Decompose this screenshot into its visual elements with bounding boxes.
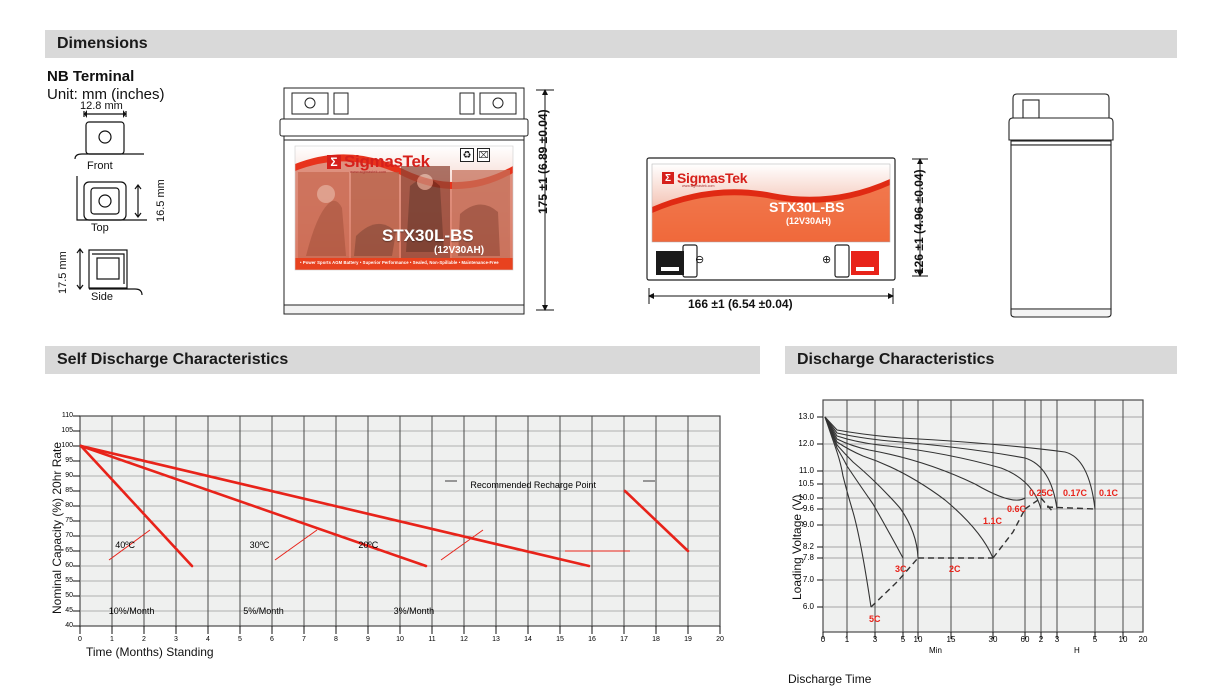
x-tick-1: 1: [102, 636, 122, 643]
sigma-mark: Σ: [327, 155, 341, 169]
x-tick-11: 10: [1114, 635, 1132, 644]
battery-tagline: • Power Sports AGM Battery • Superior Pe…: [300, 260, 499, 265]
self-discharge-ylabel: Nominal Capacity (%) 20hr Rate: [50, 442, 64, 614]
x-tick-1: 1: [838, 635, 856, 644]
battery-front-view: Σ SigmasTek www.sigmastek.com ♻ ⌧ STX30L…: [278, 86, 530, 318]
x-tick-6: 6: [262, 636, 282, 643]
terminal-svg: [47, 108, 227, 323]
battery-spec-side: (12V30AH): [786, 216, 831, 226]
y-tick-11: 11.0: [787, 466, 814, 475]
annotation-5: 3%/Month: [394, 606, 435, 616]
x-tick-3: 3: [166, 636, 186, 643]
terminal-depth-label: 17.5 mm: [57, 251, 69, 294]
discharge-xlabel: Discharge Time: [788, 672, 871, 686]
x-tick-10: 10: [390, 636, 410, 643]
battery-spec: (12V30AH): [434, 245, 484, 256]
curve-label-0.17C: 0.17C: [1063, 488, 1087, 498]
discharge-ylabel: Loading Voltage (V): [790, 495, 804, 600]
curve-label-0.6C: 0.6C: [1007, 504, 1026, 514]
y-tick-40: 40: [49, 622, 73, 629]
terminal-width-label: 12.8 mm: [80, 100, 123, 112]
y-tick-105: 105: [49, 427, 73, 434]
x-tick-19: 19: [678, 636, 698, 643]
section-header-dimensions: Dimensions: [45, 30, 1177, 58]
x-tick-17: 17: [614, 636, 634, 643]
curve-label-3C: 3C: [895, 564, 907, 574]
annotation-0: 40ºC: [115, 540, 135, 550]
curve-label-2C: 2C: [949, 564, 961, 574]
x-tick-13: 13: [486, 636, 506, 643]
x-tick-14: 14: [518, 636, 538, 643]
terminal-view-front: Front: [87, 160, 113, 172]
x-tick-12: 20: [1134, 635, 1152, 644]
battery-side-view: Σ SigmasTek www.sigmastek.com STX30L-BS …: [645, 155, 907, 295]
self-discharge-xlabel: Time (Months) Standing: [86, 645, 214, 659]
x-tick-8: 8: [326, 636, 346, 643]
brand-url: www.sigmastek.com: [350, 169, 386, 174]
terminal-negative-icon: ⊖: [695, 253, 704, 266]
x-tick-2: 2: [134, 636, 154, 643]
battery-model: STX30L-BS: [382, 226, 474, 246]
x-tick-18: 18: [646, 636, 666, 643]
y-tick-110: 110: [49, 412, 73, 419]
x-tick-4: 10: [909, 635, 927, 644]
curve-label-0.25C: 0.25C: [1029, 488, 1053, 498]
y-tick-6: 6.0: [787, 602, 814, 611]
sigma-mark-side: Σ: [662, 172, 674, 184]
curve-label-0.1C: 0.1C: [1099, 488, 1118, 498]
section-header-discharge: Discharge Characteristics: [785, 346, 1177, 374]
brand-url-side: www.sigmastek.com: [682, 184, 715, 188]
battery-model-side: STX30L-BS: [769, 199, 844, 215]
annotation-2: 20ºC: [358, 540, 378, 550]
unit-min-label: Min: [926, 646, 945, 655]
x-tick-6: 30: [984, 635, 1002, 644]
terminal-height-label: 16.5 mm: [155, 179, 167, 222]
section-header-self-discharge: Self Discharge Characteristics: [45, 346, 760, 374]
x-tick-20: 20: [710, 636, 730, 643]
x-tick-2: 3: [866, 635, 884, 644]
x-tick-5: 5: [230, 636, 250, 643]
annotation-3: 10%/Month: [109, 606, 155, 616]
annotation-6: Recommended Recharge Point: [470, 480, 596, 490]
annotation-4: 5%/Month: [243, 606, 284, 616]
battery-profile-view: [1005, 88, 1117, 320]
x-tick-7: 7: [294, 636, 314, 643]
y-tick-10.5: 10.5: [787, 479, 814, 488]
x-tick-15: 15: [550, 636, 570, 643]
x-tick-4: 4: [198, 636, 218, 643]
dimension-side-height-label: 126 ±1 (4.96 ±0.04): [912, 169, 926, 274]
terminal-positive-icon: ⊕: [822, 253, 831, 266]
recycle-icon: ♻: [460, 148, 474, 162]
x-tick-10: 5: [1086, 635, 1104, 644]
x-tick-16: 16: [582, 636, 602, 643]
dimension-width-label: 166 ±1 (6.54 ±0.04): [688, 297, 793, 311]
chart-self-discharge: 404550556065707580859095100105110 012345…: [45, 408, 755, 658]
terminal-drawings: 12.8 mm Front Top Side 16.5 mm 17.5 mm: [47, 108, 227, 323]
terminal-view-side: Side: [91, 291, 113, 303]
x-tick-0: 0: [70, 636, 90, 643]
terminal-view-top: Top: [91, 222, 109, 234]
x-tick-0: 0: [814, 635, 832, 644]
curve-label-1.1C: 1.1C: [983, 516, 1002, 526]
x-tick-5: 15: [942, 635, 960, 644]
nb-terminal-title: NB Terminal: [47, 68, 134, 85]
x-tick-9: 9: [358, 636, 378, 643]
x-tick-9: 3: [1048, 635, 1066, 644]
y-tick-12: 12.0: [787, 439, 814, 448]
chart-discharge: 13.012.011.010.510.09.69.08.27.87.06.0 0…: [785, 392, 1185, 642]
dimension-height-label: 175 ±1 (6.89 ±0.04): [536, 109, 550, 214]
no-trash-icon: ⌧: [477, 148, 490, 162]
curve-label-5C: 5C: [869, 614, 881, 624]
self-discharge-svg: [45, 408, 755, 658]
x-tick-12: 12: [454, 636, 474, 643]
annotation-1: 30ºC: [250, 540, 270, 550]
x-tick-11: 11: [422, 636, 442, 643]
y-tick-13: 13.0: [787, 412, 814, 421]
unit-hour-label: H: [1071, 646, 1083, 655]
